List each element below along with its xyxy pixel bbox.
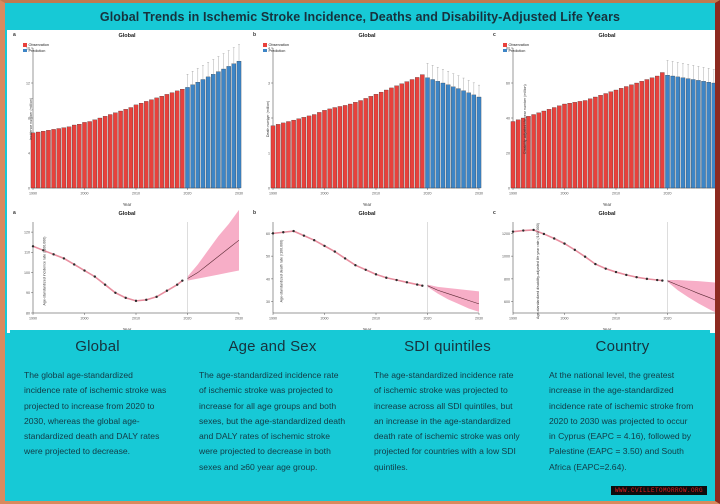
legend-label-observation: Observation	[29, 43, 49, 47]
svg-text:2030: 2030	[715, 192, 720, 196]
line-chart-row: a Global Age-standardized incidence rate…	[7, 208, 713, 333]
x-axis-label: Year	[7, 202, 247, 207]
poster-frame: Global Trends in Ischemic Stroke Inciden…	[0, 0, 720, 504]
svg-text:2020: 2020	[424, 192, 432, 196]
svg-text:2020: 2020	[664, 192, 672, 196]
summary-heading: SDI quintiles	[374, 338, 521, 355]
legend-label-prediction: Prediction	[509, 49, 526, 53]
y-axis-label: Age-standardized incidence rate (/100,00…	[42, 236, 46, 305]
x-axis-label: Year	[487, 202, 720, 207]
svg-text:4: 4	[28, 151, 30, 155]
chart-panel-bar-deaths: b Global Death number (million) Observat…	[247, 30, 487, 208]
svg-text:120: 120	[24, 231, 30, 235]
svg-text:1200: 1200	[502, 232, 510, 236]
summary-heading: Country	[549, 338, 696, 355]
y-axis-label: Disability-adjusted life year number (mi…	[523, 84, 527, 154]
svg-text:2000: 2000	[81, 317, 89, 321]
svg-text:2030: 2030	[475, 192, 483, 196]
figure-panel-grid: a Global Incidence number (million) Obse…	[7, 30, 713, 333]
svg-text:2030: 2030	[715, 317, 720, 321]
poster-title-bar: Global Trends in Ischemic Stroke Inciden…	[5, 3, 715, 30]
svg-text:80: 80	[26, 311, 30, 315]
svg-text:60: 60	[266, 232, 270, 236]
svg-text:100: 100	[24, 271, 30, 275]
svg-text:0: 0	[268, 186, 270, 190]
svg-text:1990: 1990	[509, 192, 517, 196]
y-axis-label: Age-standardized death rate (/100,000)	[279, 239, 283, 302]
legend-label-observation: Observation	[509, 43, 529, 47]
svg-text:1990: 1990	[29, 192, 37, 196]
svg-text:2000: 2000	[561, 192, 569, 196]
svg-text:0: 0	[508, 186, 510, 190]
svg-text:60: 60	[506, 81, 510, 85]
bar-chart-row: a Global Incidence number (million) Obse…	[7, 30, 713, 208]
svg-text:2030: 2030	[235, 317, 243, 321]
legend-label-prediction: Prediction	[29, 49, 46, 53]
svg-text:0: 0	[28, 186, 30, 190]
panel-title: Global	[7, 33, 247, 39]
bar-plot-incidence: 048121619902000201020202030	[7, 30, 247, 208]
svg-text:2020: 2020	[664, 317, 672, 321]
summary-heading: Age and Sex	[199, 338, 346, 355]
summary-body: At the national level, the greatest incr…	[549, 368, 696, 475]
summary-column-global: Global The global age-standardized incid…	[10, 330, 185, 498]
y-axis-label: Age-standardized disability-adjusted lif…	[536, 223, 540, 319]
svg-text:90: 90	[26, 291, 30, 295]
svg-text:2030: 2030	[235, 192, 243, 196]
panel-title: Global	[247, 33, 487, 39]
legend-swatch-prediction	[503, 49, 507, 53]
panel-title: Global	[247, 211, 487, 217]
svg-text:2020: 2020	[424, 317, 432, 321]
svg-text:50: 50	[266, 255, 270, 259]
x-axis-label: Year	[247, 202, 487, 207]
legend-swatch-prediction	[263, 49, 267, 53]
svg-text:2000: 2000	[81, 192, 89, 196]
page-title: Global Trends in Ischemic Stroke Inciden…	[100, 10, 620, 24]
bar-plot-deaths: 0123419902000201020202030	[247, 30, 487, 208]
svg-text:2010: 2010	[372, 192, 380, 196]
svg-text:2000: 2000	[321, 317, 329, 321]
svg-text:1: 1	[268, 151, 270, 155]
svg-text:12: 12	[26, 81, 30, 85]
svg-text:2020: 2020	[184, 317, 192, 321]
svg-text:2010: 2010	[132, 317, 140, 321]
svg-text:800: 800	[504, 277, 510, 281]
legend-label-prediction: Prediction	[269, 49, 286, 53]
svg-text:40: 40	[266, 277, 270, 281]
summary-columns: Global The global age-standardized incid…	[10, 330, 710, 498]
panel-title: Global	[487, 211, 720, 217]
summary-body: The age-standardized incidence rate of i…	[199, 368, 346, 475]
svg-text:1990: 1990	[509, 317, 517, 321]
svg-text:40: 40	[506, 116, 510, 120]
panel-title: Global	[7, 211, 247, 217]
svg-text:2010: 2010	[132, 192, 140, 196]
chart-legend: Observation Prediction	[23, 43, 49, 54]
svg-text:1000: 1000	[502, 255, 510, 259]
chart-panel-bar-incidence: a Global Incidence number (million) Obse…	[7, 30, 247, 208]
legend-swatch-observation	[23, 43, 27, 47]
svg-text:110: 110	[24, 251, 30, 255]
legend-swatch-observation	[263, 43, 267, 47]
svg-text:2010: 2010	[612, 192, 620, 196]
svg-text:1990: 1990	[269, 192, 277, 196]
svg-text:2000: 2000	[561, 317, 569, 321]
chart-legend: Observation Prediction	[263, 43, 289, 54]
svg-text:1990: 1990	[29, 317, 37, 321]
svg-text:2010: 2010	[612, 317, 620, 321]
chart-panel-line-asdr: b Global Age-standardized death rate (/1…	[247, 208, 487, 333]
summary-heading: Global	[24, 338, 171, 355]
summary-column-age-sex: Age and Sex The age-standardized inciden…	[185, 330, 360, 498]
summary-column-country: Country At the national level, the great…	[535, 330, 710, 498]
line-plot-daly-rate: 6008001000120019902000201020202030	[487, 208, 720, 333]
chart-panel-bar-daly: c Global Disability-adjusted life year n…	[487, 30, 720, 208]
summary-body: The global age-standardized incidence ra…	[24, 368, 171, 460]
chart-legend: Observation Prediction	[503, 43, 529, 54]
summary-column-sdi: SDI quintiles The age-standardized incid…	[360, 330, 535, 498]
svg-text:30: 30	[266, 300, 270, 304]
legend-swatch-prediction	[23, 49, 27, 53]
svg-text:20: 20	[506, 151, 510, 155]
svg-text:2000: 2000	[321, 192, 329, 196]
svg-text:600: 600	[504, 300, 510, 304]
svg-text:2020: 2020	[184, 192, 192, 196]
svg-text:1990: 1990	[269, 317, 277, 321]
legend-label-observation: Observation	[269, 43, 289, 47]
y-axis-label: Incidence number (million)	[29, 98, 33, 140]
legend-swatch-observation	[503, 43, 507, 47]
svg-text:2030: 2030	[475, 317, 483, 321]
chart-panel-line-daly-rate: c Global Age-standardized disability-adj…	[487, 208, 720, 333]
panel-title: Global	[487, 33, 720, 39]
y-axis-label: Death number (million)	[266, 101, 270, 137]
svg-text:3: 3	[268, 81, 270, 85]
site-watermark: WWW.CVILLETOMORROW.ORG	[611, 486, 707, 496]
svg-text:2010: 2010	[372, 317, 380, 321]
summary-body: The age-standardized incidence rate of i…	[374, 368, 521, 475]
chart-panel-line-asir: a Global Age-standardized incidence rate…	[7, 208, 247, 333]
